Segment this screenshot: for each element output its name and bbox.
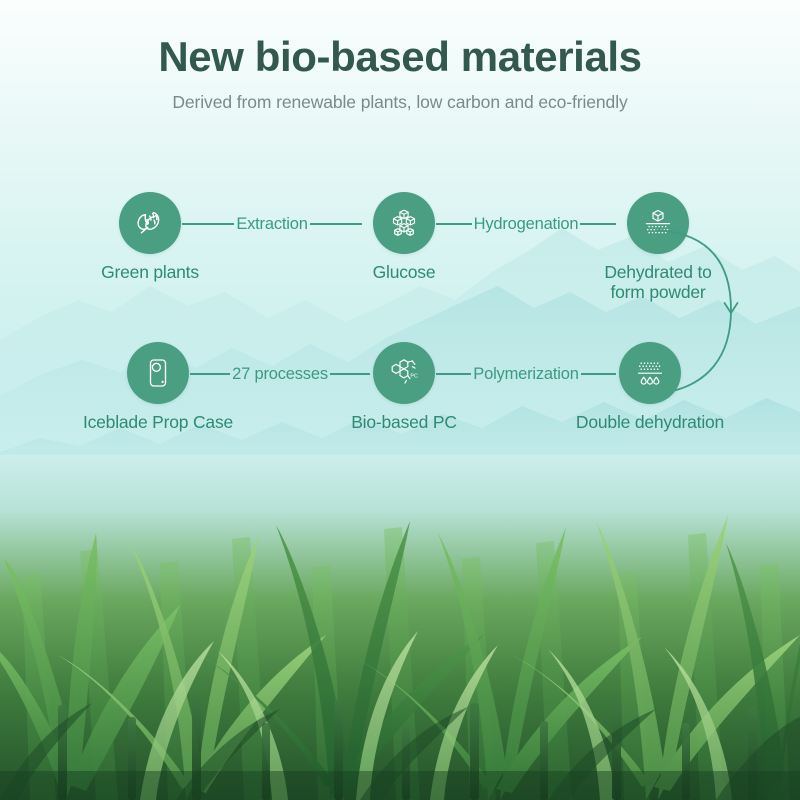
flow-node-label: Glucose	[324, 263, 484, 283]
green-plants-circle	[119, 192, 181, 254]
flow-node-label: Iceblade Prop Case	[78, 413, 238, 433]
flow-node-label: Double dehydration	[570, 413, 730, 433]
flow-node-label: Bio-based PC	[324, 413, 484, 433]
sugarcane-field-photo	[0, 455, 800, 800]
flow-node-label: Green plants	[70, 263, 230, 283]
sugar-cubes-icon	[387, 206, 421, 240]
connector-line-left	[190, 373, 230, 375]
flow-node-glucose[interactable]: Glucose	[324, 192, 484, 283]
bio-based-pc-circle: PC	[373, 342, 435, 404]
connector-line-left	[182, 223, 234, 225]
connector-line-left	[436, 223, 472, 225]
glucose-circle	[373, 192, 435, 254]
infographic-root: New bio-based materials Derived from ren…	[0, 0, 800, 800]
process-flow-diagram: Green plants Extraction	[0, 0, 800, 470]
flow-node-green-plants[interactable]: Green plants	[70, 192, 230, 283]
connector-label: Extraction	[234, 215, 309, 234]
iceblade-prop-case-circle	[127, 342, 189, 404]
sugarcane-illustration	[0, 455, 800, 800]
flow-node-bio-based-pc[interactable]: PC Bio-based PC	[324, 342, 484, 433]
corn-icon	[133, 206, 167, 240]
connector-line-left	[436, 373, 471, 375]
double-dehydration-circle	[619, 342, 681, 404]
pc-label: PC	[410, 374, 418, 380]
flow-node-double-dehydration[interactable]: Double dehydration	[570, 342, 730, 433]
phone-case-icon	[141, 356, 175, 390]
molecule-pc-icon: PC	[386, 355, 422, 391]
connector-label: 27 processes	[230, 365, 330, 384]
powder-droplets-icon	[633, 356, 667, 390]
flow-node-iceblade-prop-case[interactable]: Iceblade Prop Case	[78, 342, 238, 433]
connector-label: Polymerization	[471, 365, 580, 384]
connector-label: Hydrogenation	[472, 215, 581, 234]
